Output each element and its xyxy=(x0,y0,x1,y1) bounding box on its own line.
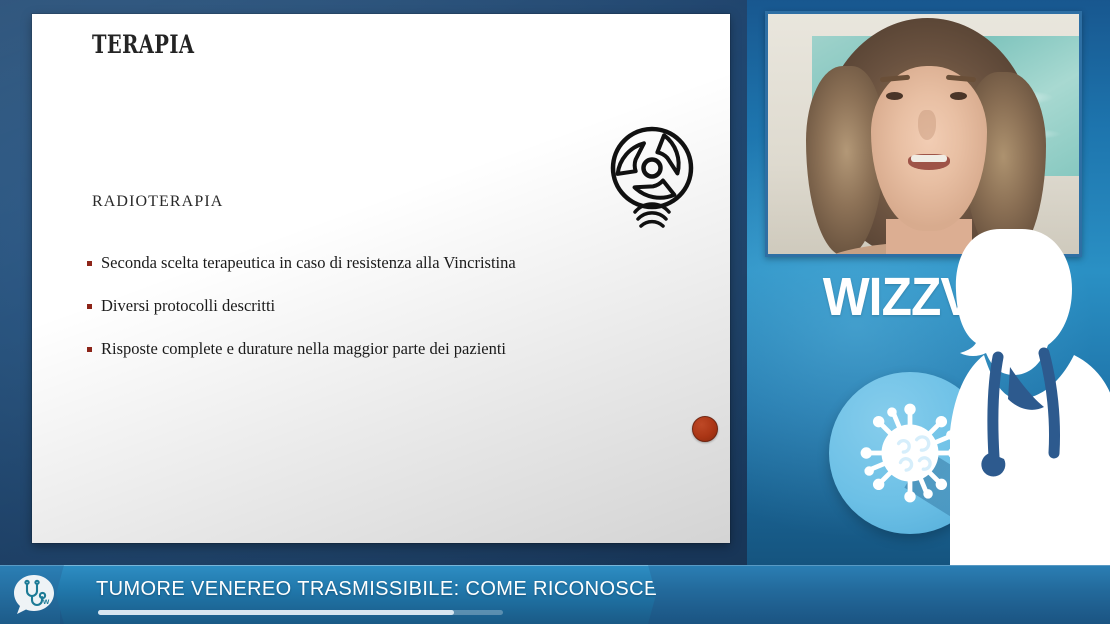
list-item: Seconda scelta terapeutica in caso di re… xyxy=(87,254,687,273)
slide-viewport: TERAPIA RADIOTERAPIA Seconda scelta tera… xyxy=(0,0,747,565)
brand-panel: WIZZVET xyxy=(747,0,1110,565)
wizzvet-logo-icon[interactable]: w xyxy=(12,573,56,617)
list-item: Diversi protocolli descritti xyxy=(87,297,687,316)
list-item: Risposte complete e durature nella maggi… xyxy=(87,340,687,359)
radiation-icon xyxy=(597,122,707,232)
progress-bar[interactable] xyxy=(98,610,503,615)
slide-title: TERAPIA xyxy=(92,32,194,57)
red-seal-dot xyxy=(692,416,718,442)
doctor-silhouette-icon xyxy=(948,217,1110,565)
svg-text:w: w xyxy=(42,597,50,606)
screen-stage: TERAPIA RADIOTERAPIA Seconda scelta tera… xyxy=(0,0,1110,624)
video-title-chevron[interactable]: TUMORE VENEREO TRASMISSIBILE: COME RICON… xyxy=(56,565,656,624)
player-bottom-bar[interactable]: w TUMORE VENEREO TRASMISSIBILE: COME RIC… xyxy=(0,565,1110,624)
video-title: TUMORE VENEREO TRASMISSIBILE: COME RICON… xyxy=(96,578,690,601)
presentation-slide: TERAPIA RADIOTERAPIA Seconda scelta tera… xyxy=(32,14,730,543)
slide-subtitle: RADIOTERAPIA xyxy=(92,194,223,210)
slide-bullet-list: Seconda scelta terapeutica in caso di re… xyxy=(87,254,687,383)
progress-fill xyxy=(98,610,454,615)
